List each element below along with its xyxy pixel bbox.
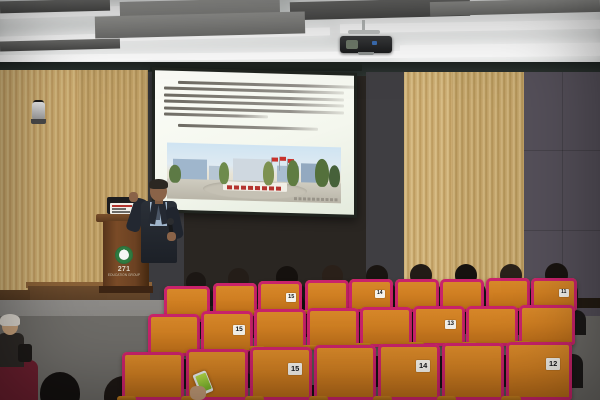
seat-number-plate: 15 bbox=[286, 293, 296, 302]
projector-foot bbox=[358, 52, 374, 55]
auditorium-photo: 271 EDUCATION GROUP 1514111513151412 bbox=[0, 0, 600, 400]
seat-number-plate: 14 bbox=[375, 290, 385, 298]
smartphone-hand bbox=[190, 386, 206, 400]
auditorium-seat[interactable]: 12 bbox=[506, 342, 572, 400]
auditorium-seat[interactable] bbox=[519, 305, 575, 345]
seat-number-plate: 13 bbox=[445, 320, 456, 329]
seat-number-plate: 15 bbox=[233, 325, 245, 335]
auditorium-seat[interactable]: 15 bbox=[250, 347, 312, 400]
speaker-raised-hand bbox=[129, 192, 138, 202]
projection-screen bbox=[155, 70, 354, 215]
slide-text-block bbox=[164, 80, 344, 135]
attendee-left-hair bbox=[0, 314, 20, 326]
auditorium-seat[interactable] bbox=[254, 309, 306, 350]
attendee-left-bag bbox=[18, 344, 32, 362]
photo-tree bbox=[219, 162, 229, 184]
ceiling-baffle bbox=[430, 0, 600, 16]
microphone-capsule bbox=[167, 218, 174, 225]
photo-flag bbox=[280, 157, 286, 161]
auditorium-seat[interactable] bbox=[307, 308, 359, 349]
photo-flag bbox=[272, 157, 278, 161]
photo-tree bbox=[315, 159, 329, 187]
slide-campus-photo bbox=[167, 143, 341, 204]
ceiling-baffle bbox=[0, 39, 120, 52]
seat-armrest bbox=[245, 396, 264, 400]
brand-subtitle: EDUCATION GROUP bbox=[104, 273, 144, 277]
auditorium-seat[interactable] bbox=[442, 343, 504, 400]
photo-tree bbox=[263, 161, 274, 185]
auditorium-seat[interactable]: 13 bbox=[413, 306, 465, 346]
seat-armrest bbox=[309, 396, 328, 400]
seat-number-plate: 15 bbox=[288, 363, 302, 375]
projector-mount-bracket bbox=[348, 30, 380, 34]
speaker-hair bbox=[149, 179, 168, 189]
security-camera-body bbox=[32, 102, 45, 120]
seat-armrest bbox=[117, 396, 136, 400]
slide-text-line bbox=[164, 112, 268, 118]
brand-number: 271 bbox=[108, 266, 140, 273]
photo-tree bbox=[329, 165, 340, 187]
seat-number-plate: 14 bbox=[416, 360, 430, 372]
seat-number-plate: 12 bbox=[546, 358, 560, 370]
seat-armrest bbox=[373, 396, 392, 400]
seat-number-plate: 11 bbox=[559, 289, 569, 297]
speaker-mic-hand bbox=[167, 232, 176, 241]
lectern-base bbox=[99, 286, 153, 293]
auditorium-seat[interactable]: 15 bbox=[201, 311, 253, 353]
photo-tree bbox=[169, 165, 181, 183]
security-camera-mount bbox=[31, 119, 46, 124]
auditorium-seat[interactable]: 14 bbox=[378, 344, 440, 400]
auditorium-seat[interactable] bbox=[314, 345, 376, 400]
organization-emblem-inner bbox=[119, 250, 129, 260]
photo-tree bbox=[287, 160, 299, 186]
seat-armrest bbox=[501, 396, 521, 400]
projector-status-led bbox=[372, 41, 377, 45]
auditorium-seat[interactable] bbox=[122, 352, 184, 400]
auditorium-seat[interactable] bbox=[466, 306, 518, 346]
auditorium-seat[interactable] bbox=[360, 307, 412, 347]
projector-lens bbox=[346, 40, 358, 49]
ceiling bbox=[0, 0, 600, 62]
seat-armrest bbox=[437, 396, 456, 400]
